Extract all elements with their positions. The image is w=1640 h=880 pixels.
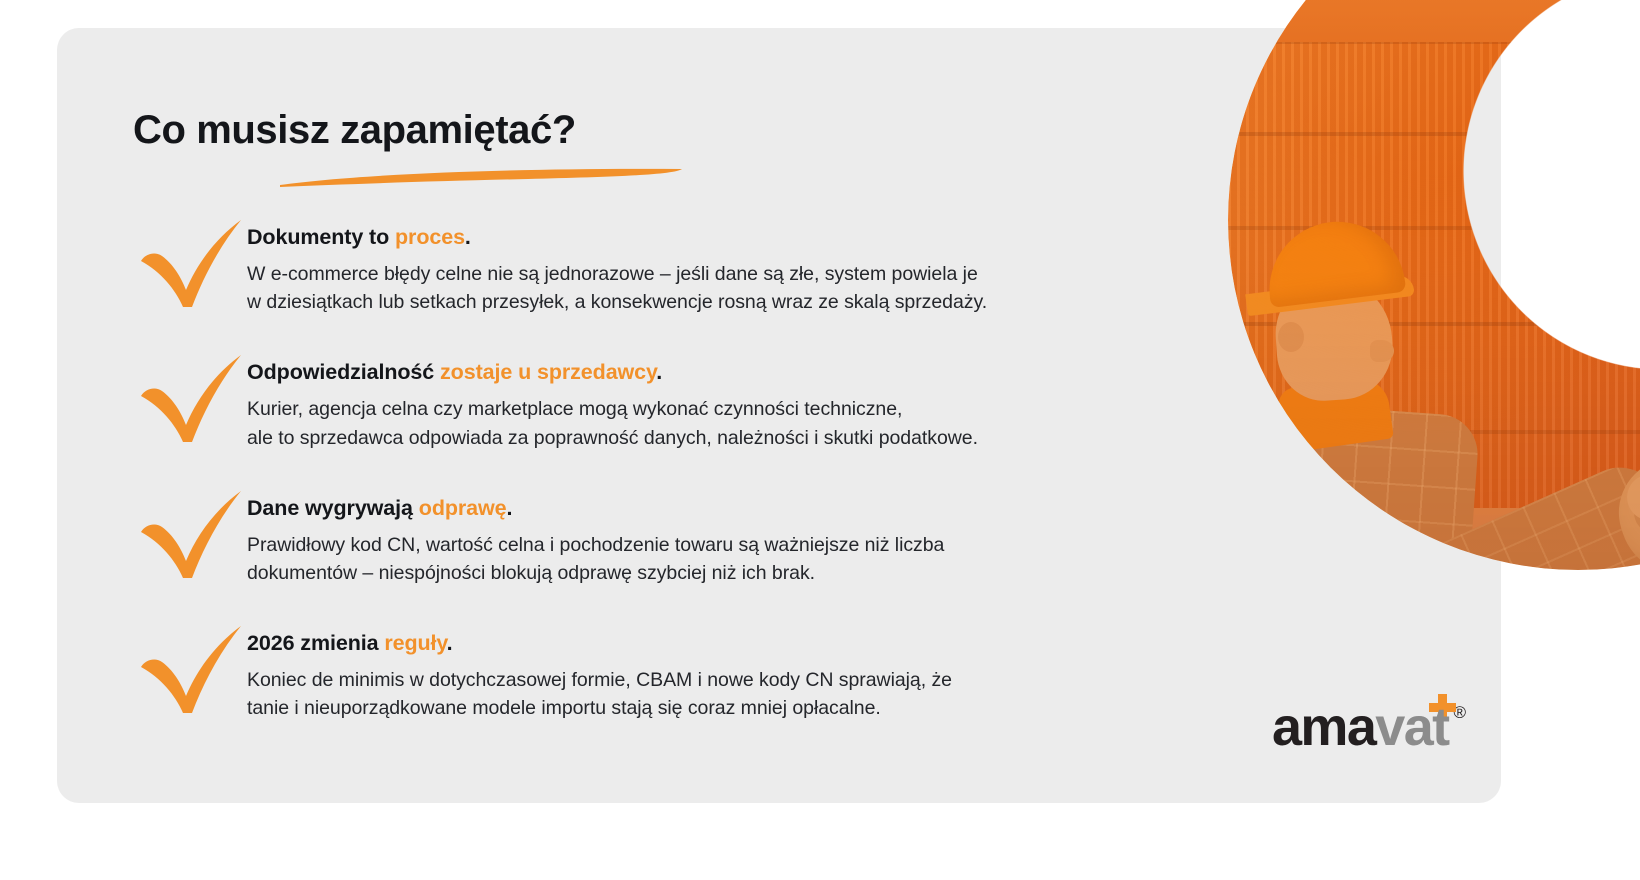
checkmark-icon bbox=[135, 620, 247, 716]
bullet-title-highlight: odprawę bbox=[419, 496, 507, 520]
bullet-title-suffix: . bbox=[447, 631, 453, 655]
bullet-body-line: Kurier, agencja celna czy marketplace mo… bbox=[247, 395, 1153, 423]
hand-knuckles bbox=[1621, 456, 1640, 526]
bullet-list: Dokumenty to proces. W e-commerce błędy … bbox=[133, 212, 1153, 723]
bullet-title-suffix: . bbox=[507, 496, 513, 520]
bullet-body: Koniec de minimis w dotychczasowej formi… bbox=[247, 666, 1153, 723]
bullet-title-suffix: . bbox=[465, 225, 471, 249]
amavat-logo: amavat ® bbox=[1272, 700, 1466, 754]
handshake-hands bbox=[1605, 440, 1640, 570]
checkmark-icon bbox=[135, 485, 247, 581]
bullet-body-line: Koniec de minimis w dotychczasowej formi… bbox=[247, 666, 1153, 694]
bullet-body: Kurier, agencja celna czy marketplace mo… bbox=[247, 395, 1153, 452]
bullet-body-line: w dziesiątkach lub setkach przesyłek, a … bbox=[247, 288, 1153, 316]
bullet-body-line: dokumentów – niespójności blokują odpraw… bbox=[247, 559, 1153, 587]
bullet-title-plain: Dokumenty to bbox=[247, 225, 395, 249]
bullet-text-block: Odpowiedzialność zostaje u sprzedawcy. K… bbox=[247, 347, 1153, 451]
bullet-text-block: 2026 zmienia reguły. Koniec de minimis w… bbox=[247, 618, 1153, 722]
logo-ama-part: ama bbox=[1272, 697, 1375, 757]
logo-va-part: va bbox=[1375, 697, 1432, 757]
slide-root: Co musisz zapamiętać? Dokumenty to proce… bbox=[0, 0, 1640, 880]
list-item: Dokumenty to proces. W e-commerce błędy … bbox=[133, 212, 1153, 316]
heading-underline-swoosh bbox=[278, 166, 686, 188]
bullet-title: Dane wygrywają odprawę. bbox=[247, 495, 1153, 522]
bullet-title-plain: Dane wygrywają bbox=[247, 496, 419, 520]
bullet-body-line: W e-commerce błędy celne nie są jednoraz… bbox=[247, 260, 1153, 288]
bullet-text-block: Dane wygrywają odprawę. Prawidłowy kod C… bbox=[247, 483, 1153, 587]
bullet-body: Prawidłowy kod CN, wartość celna i pocho… bbox=[247, 531, 1153, 588]
logo-wordmark: amavat bbox=[1272, 700, 1449, 754]
bullet-body-line: tanie i nieuporządkowane modele importu … bbox=[247, 694, 1153, 722]
checkmark-icon bbox=[135, 349, 247, 445]
bullet-title: 2026 zmienia reguły. bbox=[247, 630, 1153, 657]
bullet-body-line: ale to sprzedawca odpowiada za poprawnoś… bbox=[247, 424, 1153, 452]
bullet-title-highlight: reguły bbox=[384, 631, 446, 655]
bullet-text-block: Dokumenty to proces. W e-commerce błędy … bbox=[247, 212, 1153, 316]
bullet-title-suffix: . bbox=[656, 360, 662, 384]
bullet-title: Dokumenty to proces. bbox=[247, 224, 1153, 251]
bullet-body: W e-commerce błędy celne nie są jednoraz… bbox=[247, 260, 1153, 317]
page-title: Co musisz zapamiętać? bbox=[133, 108, 576, 152]
bullet-title: Odpowiedzialność zostaje u sprzedawcy. bbox=[247, 359, 1153, 386]
bullet-title-highlight: proces bbox=[395, 225, 465, 249]
list-item: Dane wygrywają odprawę. Prawidłowy kod C… bbox=[133, 483, 1153, 587]
list-item: Odpowiedzialność zostaje u sprzedawcy. K… bbox=[133, 347, 1153, 451]
list-item: 2026 zmienia reguły. Koniec de minimis w… bbox=[133, 618, 1153, 722]
heading-block: Co musisz zapamiętać? bbox=[133, 108, 576, 152]
bullet-title-plain: Odpowiedzialność bbox=[247, 360, 440, 384]
bullet-title-highlight: zostaje u sprzedawcy bbox=[440, 360, 656, 384]
checkmark-icon bbox=[135, 214, 247, 310]
bullet-body-line: Prawidłowy kod CN, wartość celna i pocho… bbox=[247, 531, 1153, 559]
bullet-title-plain: 2026 zmienia bbox=[247, 631, 384, 655]
logo-t-part: t bbox=[1432, 697, 1448, 757]
logo-t-wrap: t bbox=[1432, 700, 1448, 754]
